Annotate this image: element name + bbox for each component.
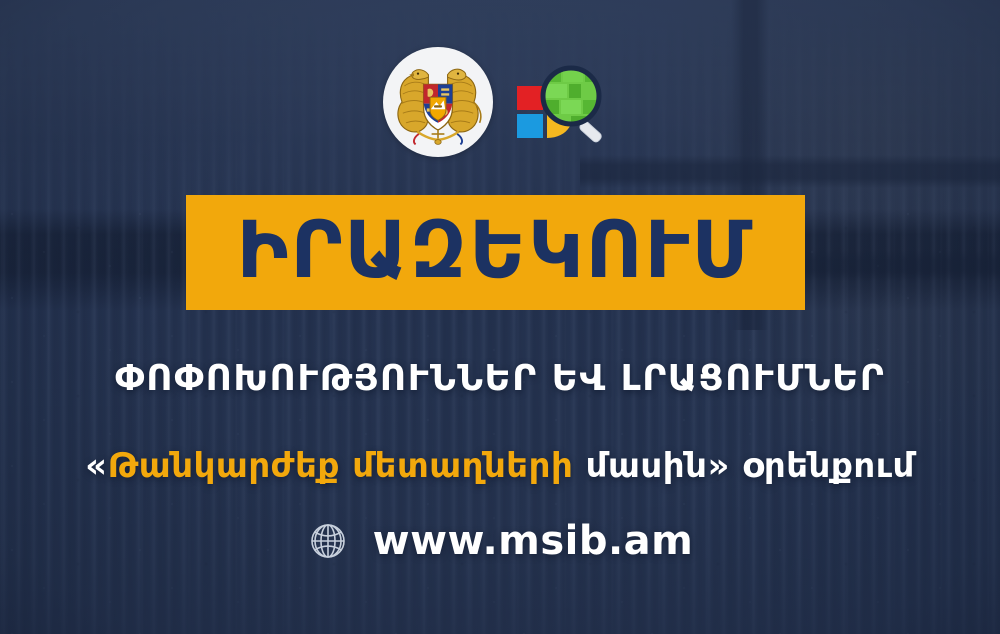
msib-logo [497, 48, 617, 156]
law-rest-text: մասին» օրենքում [573, 446, 915, 486]
law-quote-open: « [85, 446, 107, 486]
poster-canvas: ԻՐԱԶԵԿՈՒՄ ՓՈՓՈԽՈՒԹՅՈՒՆՆԵՐ ԵՎ ԼՐԱՑՈՒՄՆԵՐ … [0, 0, 1000, 634]
website-row[interactable]: www.msib.am [0, 518, 1000, 564]
globe-icon [307, 520, 349, 562]
page-title: ԻՐԱԶԵԿՈՒՄ [237, 212, 755, 290]
logo-row [0, 32, 1000, 172]
law-reference-line: «Թանկարժեք մետաղների մասին» օրենքում [0, 446, 1000, 486]
coat-of-arms-badge [383, 47, 493, 157]
armenia-coat-of-arms-icon [390, 54, 486, 150]
website-url[interactable]: www.msib.am [373, 518, 694, 564]
subtitle: ՓՈՓՈԽՈՒԹՅՈՒՆՆԵՐ ԵՎ ԼՐԱՑՈՒՄՆԵՐ [0, 358, 1000, 399]
title-banner: ԻՐԱԶԵԿՈՒՄ [186, 195, 805, 310]
magnifier-over-squares-icon [501, 52, 613, 152]
law-highlight-text: Թանկարժեք մետաղների [108, 446, 574, 486]
